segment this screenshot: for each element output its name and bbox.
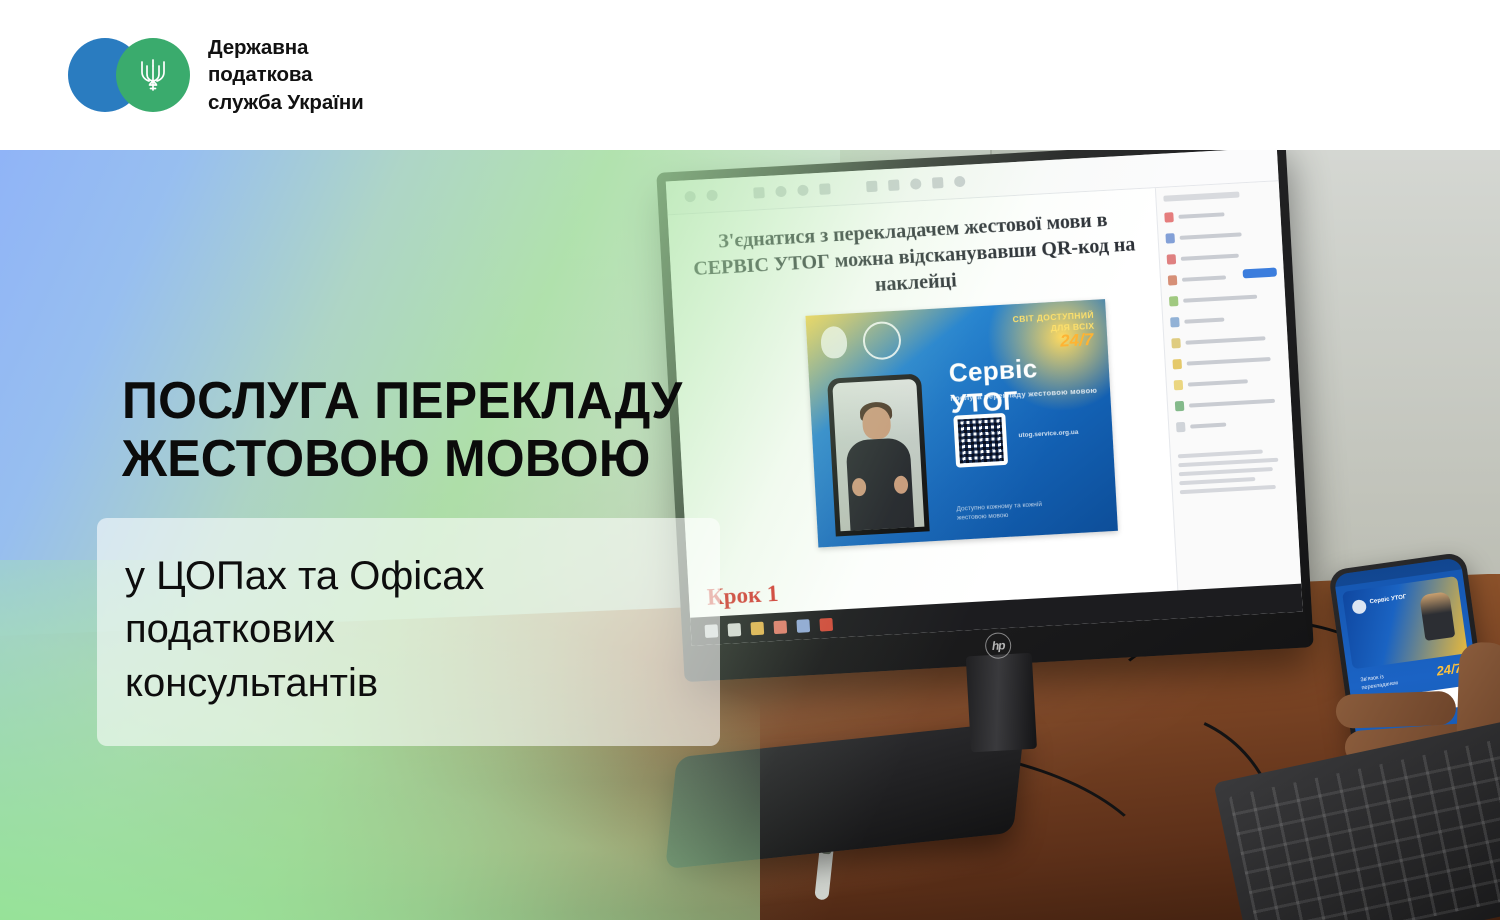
toolbar-icon[interactable] (866, 181, 878, 193)
poster-availability: 24/7 (1060, 330, 1094, 352)
sidebar-item[interactable] (1167, 249, 1276, 265)
sidebar-note-line (1179, 477, 1255, 485)
phone-app-card[interactable]: Сервіс УТОГ (1342, 576, 1468, 669)
sidebar-item-label (1189, 399, 1275, 408)
sidebar-item-label (1184, 318, 1224, 324)
sidebar-action-button[interactable] (1243, 268, 1277, 279)
header-bar: Державна податкова служба України (0, 0, 1500, 150)
sidebar-item[interactable] (1172, 353, 1281, 369)
ministry-crest-icon (820, 326, 848, 359)
sidebar-item-label (1180, 232, 1242, 239)
sidebar-item-icon (1172, 359, 1182, 369)
sidebar-note-line (1180, 485, 1276, 494)
sidebar-note-line (1178, 458, 1278, 468)
poster-title: Сервіс УТОГ (948, 349, 1111, 420)
sidebar-item-label (1178, 212, 1224, 219)
sidebar-item[interactable] (1175, 395, 1284, 411)
sidebar-note-line (1179, 467, 1273, 476)
sidebar-item-label (1182, 275, 1226, 281)
toolbar-icon[interactable] (888, 179, 900, 191)
taskbar-icon[interactable] (728, 622, 742, 636)
page-subtitle: у ЦОПах та Офісах податкових консультант… (97, 550, 484, 714)
sidebar-item[interactable] (1164, 207, 1273, 223)
poster-url: utog.service.org.ua (1018, 429, 1078, 439)
sidebar-item-label (1181, 254, 1239, 261)
app-logo-icon (1351, 599, 1367, 615)
sidebar-item[interactable] (1171, 332, 1280, 348)
sidebar-item-icon (1171, 338, 1181, 348)
sidebar-item-icon (1176, 422, 1186, 432)
sidebar-item-label (1187, 357, 1271, 366)
toolbar-icon[interactable] (932, 177, 944, 189)
logo-marks (68, 38, 190, 112)
toolbar-icon[interactable] (684, 191, 696, 203)
taskbar-icon[interactable] (773, 620, 787, 634)
toolbar-icon[interactable] (910, 178, 922, 190)
sidebar-item-label (1188, 379, 1248, 386)
sidebar-item[interactable] (1165, 228, 1274, 244)
sidebar-item-icon (1168, 275, 1178, 285)
taskbar-icon[interactable] (750, 621, 764, 635)
taskbar-icon[interactable] (819, 617, 833, 631)
toolbar-icon[interactable] (706, 190, 718, 202)
sidebar-item-active[interactable] (1168, 270, 1277, 286)
sidebar-item-label (1190, 423, 1226, 429)
monitor-neck (966, 653, 1037, 753)
toolbar-separator (729, 194, 743, 195)
sidebar-item[interactable] (1174, 374, 1283, 390)
sidebar-title (1163, 191, 1240, 201)
sidebar-item[interactable] (1170, 311, 1279, 327)
sidebar-item-icon (1169, 296, 1179, 306)
poster-canvas: hp (0, 0, 1500, 920)
sidebar-item[interactable] (1176, 416, 1285, 432)
brand-name: Державна податкова служба України (208, 34, 364, 116)
toolbar-icon[interactable] (819, 183, 831, 195)
poster-footer: Доступно кожному та кожній жестовою мово… (956, 499, 1043, 523)
app-card-title: Сервіс УТОГ (1369, 594, 1406, 605)
interpreter-avatar (1419, 591, 1455, 641)
toolbar-icon[interactable] (775, 186, 787, 198)
toolbar-icon[interactable] (797, 185, 809, 197)
taskbar-icon[interactable] (796, 619, 810, 633)
subtitle-panel: у ЦОПах та Офісах податкових консультант… (97, 518, 720, 746)
utog-poster: СВІТ ДОСТУПНИЙ ДЛЯ ВСІХ 24/7 Сервіс УТОГ… (805, 299, 1117, 547)
sidebar-item[interactable] (1169, 290, 1278, 306)
sidebar-item-icon (1167, 254, 1177, 264)
sidebar-item-icon (1165, 233, 1175, 243)
app-sidebar (1155, 181, 1301, 590)
interpreter-head (862, 406, 892, 440)
finger (1335, 691, 1456, 729)
sidebar-item-label (1183, 295, 1257, 303)
utog-emblem-icon (862, 321, 902, 361)
toolbar-separator (841, 187, 855, 188)
trident-icon (116, 38, 190, 112)
sidebar-item-label (1185, 336, 1265, 344)
page-title: ПОСЛУГА ПЕРЕКЛАДУ ЖЕСТОВОЮ МОВОЮ (122, 372, 852, 488)
sidebar-note-line (1178, 450, 1263, 459)
brand-logo[interactable]: Державна податкова служба України (68, 34, 364, 116)
toolbar-icon[interactable] (954, 176, 966, 188)
toolbar-icon[interactable] (753, 187, 765, 199)
sidebar-item-icon (1175, 401, 1185, 411)
sidebar-item-icon (1164, 212, 1174, 222)
slide-heading: З'єднатися з перекладачем жестової мови … (691, 205, 1139, 308)
sidebar-item-icon (1174, 380, 1184, 390)
sidebar-item-icon (1170, 317, 1180, 327)
qr-code (953, 413, 1008, 468)
sidebar-note-block (1177, 440, 1289, 494)
